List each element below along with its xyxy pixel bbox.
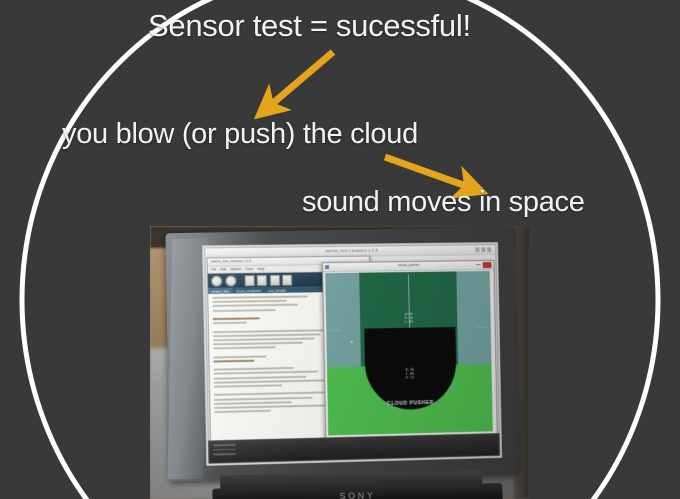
- code-line: [213, 314, 229, 316]
- monitor-photo: sketch_test | Arduino 1.0.5 sketch_test …: [150, 226, 530, 499]
- minimize-icon[interactable]: [476, 264, 481, 265]
- code-line: [212, 300, 286, 303]
- viz-canvas: L 0.2 R 0.9 push0.181.00 0.481.060.72 CL…: [325, 271, 493, 435]
- code-line: [214, 390, 230, 392]
- visualization-window[interactable]: cloud_pusher L 0.2 R 0.9 push0.181.: [322, 260, 498, 441]
- code-line: [214, 384, 282, 387]
- caption-blow-the-cloud: you blow (or push) the cloud: [62, 118, 418, 151]
- code-line: [214, 364, 230, 366]
- code-line: [213, 329, 330, 333]
- page-title: Sensor test = sucessful!: [148, 8, 471, 44]
- menu-edit[interactable]: Edit: [220, 267, 226, 271]
- menu-tools[interactable]: Tools: [245, 267, 253, 271]
- code-line: [213, 326, 229, 328]
- menu-sketch[interactable]: Sketch: [230, 267, 241, 271]
- viz-window-title: cloud_pusher: [323, 262, 493, 268]
- code-line: [213, 333, 321, 337]
- arrow-down-left: [272, 52, 333, 104]
- code-line: [213, 309, 276, 312]
- code-line: [214, 371, 319, 375]
- taskbar-item[interactable]: [213, 448, 235, 450]
- code-line: [213, 352, 229, 354]
- serial-monitor-icon[interactable]: [282, 274, 292, 285]
- caption-sound-moves-in-space: sound moves in space: [302, 186, 585, 219]
- new-icon[interactable]: [244, 275, 254, 286]
- os-window-title: sketch_test | Arduino 1.0.5: [205, 246, 495, 254]
- code-line: [214, 391, 337, 396]
- code-line: [213, 322, 247, 325]
- code-line: [213, 342, 302, 346]
- sony-monitor: sketch_test | Arduino 1.0.5 sketch_test …: [165, 227, 518, 499]
- menu-help[interactable]: Help: [257, 267, 264, 271]
- code-line: [213, 304, 298, 307]
- slide-canvas: Sensor test = sucessful! you blow (or pu…: [0, 0, 680, 499]
- viz-label-right: R 0.9: [477, 326, 486, 329]
- viz-label-left: L 0.2: [331, 329, 340, 332]
- close-icon[interactable]: [483, 262, 492, 268]
- code-line: [212, 295, 307, 298]
- open-icon[interactable]: [257, 274, 267, 285]
- taskbar-item[interactable]: [213, 444, 235, 446]
- code-line: [214, 401, 291, 405]
- code-line: [214, 404, 328, 409]
- arrow-down-right: [385, 157, 466, 186]
- taskbar-item[interactable]: [213, 453, 235, 455]
- code-line: [213, 317, 259, 320]
- code-line: [214, 396, 312, 400]
- verify-icon[interactable]: [211, 275, 222, 286]
- code-line: [214, 375, 306, 379]
- code-line: [213, 337, 315, 341]
- monitor-screen: sketch_test | Arduino 1.0.5 sketch_test …: [202, 242, 502, 466]
- code-line: [214, 360, 254, 363]
- window-controls[interactable]: [475, 247, 493, 252]
- ide-window-title: sketch_test | Arduino 1.0.5: [211, 259, 252, 264]
- save-icon[interactable]: [269, 274, 279, 285]
- code-line: [214, 379, 325, 383]
- menu-file[interactable]: File: [211, 268, 217, 272]
- code-line: [215, 410, 271, 413]
- viz-marker-dot: [351, 341, 353, 343]
- code-line: [214, 355, 267, 358]
- code-line: [214, 367, 294, 371]
- code-line: [213, 346, 275, 349]
- sony-brand-logo: SONY: [212, 488, 502, 499]
- upload-icon[interactable]: [225, 275, 236, 286]
